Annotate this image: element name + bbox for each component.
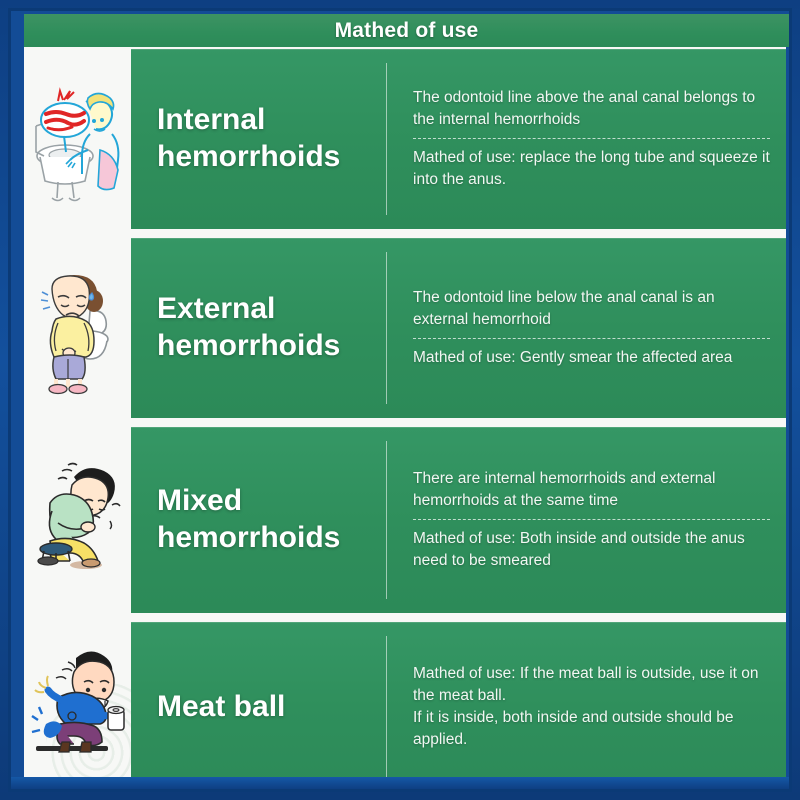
row-green-panel: Internal hemorrhoids The odontoid line a… — [131, 49, 786, 229]
row-title-cell: Mixed hemorrhoids — [131, 427, 386, 613]
header-bar: Mathed of use — [24, 14, 789, 47]
row-description-cell: The odontoid line below the anal canal i… — [387, 238, 786, 418]
person-on-toilet-bleeding-icon — [28, 64, 128, 214]
row-title: External hemorrhoids — [157, 291, 386, 364]
row-method: Mathed of use: If the meat ball is outsi… — [413, 663, 770, 751]
row-title: Meat ball — [157, 689, 285, 726]
poster-root: Mathed of use — [0, 0, 800, 800]
row-method: Mathed of use: Gently smear the affected… — [413, 347, 770, 369]
row-green-panel: External hemorrhoids The odontoid line b… — [131, 238, 786, 418]
content-card: Internal hemorrhoids The odontoid line a… — [24, 47, 786, 777]
row-illustration-cell — [24, 427, 131, 613]
row-description-cell: Mathed of use: If the meat ball is outsi… — [387, 622, 786, 777]
table-row: Internal hemorrhoids The odontoid line a… — [24, 49, 786, 229]
dashed-separator — [413, 519, 770, 520]
bottom-blue-strip — [11, 777, 789, 789]
row-title-cell: Internal hemorrhoids — [131, 49, 386, 229]
table-row: Meat ball Mathed of use: If the meat bal… — [24, 622, 786, 777]
row-illustration-cell — [24, 622, 131, 777]
row-title-cell: External hemorrhoids — [131, 238, 386, 418]
row-title: Internal hemorrhoids — [157, 102, 386, 175]
row-green-panel: Mixed hemorrhoids There are internal hem… — [131, 427, 786, 613]
row-illustration-cell — [24, 49, 131, 229]
page-title: Mathed of use — [335, 19, 479, 43]
row-title-cell: Meat ball — [131, 622, 386, 777]
poster-inner-frame: Mathed of use — [8, 8, 792, 792]
row-method: Mathed of use: Both inside and outside t… — [413, 528, 770, 572]
man-crouching-in-pain-icon — [28, 445, 128, 595]
dashed-separator — [413, 338, 770, 339]
dashed-separator — [413, 138, 770, 139]
row-description: There are internal hemorrhoids and exter… — [413, 468, 770, 512]
row-description-cell: There are internal hemorrhoids and exter… — [387, 427, 786, 613]
table-row: External hemorrhoids The odontoid line b… — [24, 238, 786, 418]
row-illustration-cell — [24, 238, 131, 418]
row-description-cell: The odontoid line above the anal canal b… — [387, 49, 786, 229]
woman-sitting-on-toilet-icon — [28, 253, 128, 403]
table-row: Mixed hemorrhoids There are internal hem… — [24, 427, 786, 613]
row-description: The odontoid line below the anal canal i… — [413, 287, 770, 331]
row-green-panel: Meat ball Mathed of use: If the meat bal… — [131, 622, 786, 777]
row-description: The odontoid line above the anal canal b… — [413, 87, 770, 131]
row-method: Mathed of use: replace the long tube and… — [413, 147, 770, 191]
row-title: Mixed hemorrhoids — [157, 483, 386, 556]
man-holding-tissue-roll-icon — [28, 632, 128, 777]
